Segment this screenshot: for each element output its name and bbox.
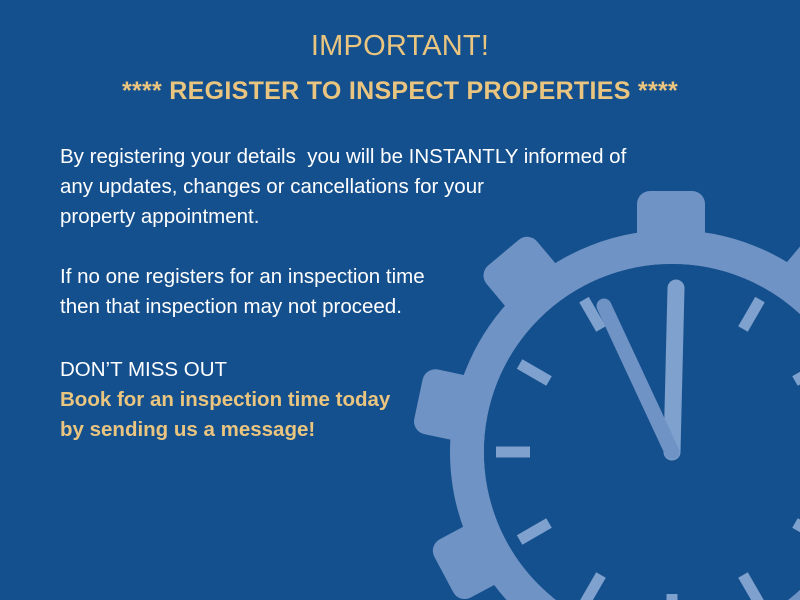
cta-booking-line-1: Book for an inspection time today <box>60 385 720 415</box>
headline-register: **** REGISTER TO INSPECT PROPERTIES **** <box>0 71 800 111</box>
cta-dont-miss-out: DON’T MISS OUT <box>60 355 720 385</box>
paragraph-no-registration: If no one registers for an inspection ti… <box>60 262 720 322</box>
paragraph-no-registration-line-2: then that inspection may not proceed. <box>60 292 720 322</box>
paragraph-registering-line-3: property appointment. <box>60 202 720 232</box>
cta-booking-line-2: by sending us a message! <box>60 415 720 445</box>
paragraph-spacer-1 <box>60 232 720 262</box>
headline-block: IMPORTANT! **** REGISTER TO INSPECT PROP… <box>0 26 800 111</box>
paragraph-registering: By registering your details you will be … <box>60 142 720 232</box>
paragraph-registering-line-2: any updates, changes or cancellations fo… <box>60 172 720 202</box>
paragraph-spacer-2 <box>60 322 720 355</box>
slide-canvas: IMPORTANT! **** REGISTER TO INSPECT PROP… <box>0 0 800 600</box>
headline-important: IMPORTANT! <box>0 26 800 66</box>
body-block: By registering your details you will be … <box>60 142 720 445</box>
cta-booking: Book for an inspection time today by sen… <box>60 385 720 445</box>
paragraph-no-registration-line-1: If no one registers for an inspection ti… <box>60 262 720 292</box>
paragraph-registering-line-1: By registering your details you will be … <box>60 142 720 172</box>
slide-content: IMPORTANT! **** REGISTER TO INSPECT PROP… <box>0 0 800 600</box>
call-to-action-block: DON’T MISS OUT Book for an inspection ti… <box>60 355 720 445</box>
